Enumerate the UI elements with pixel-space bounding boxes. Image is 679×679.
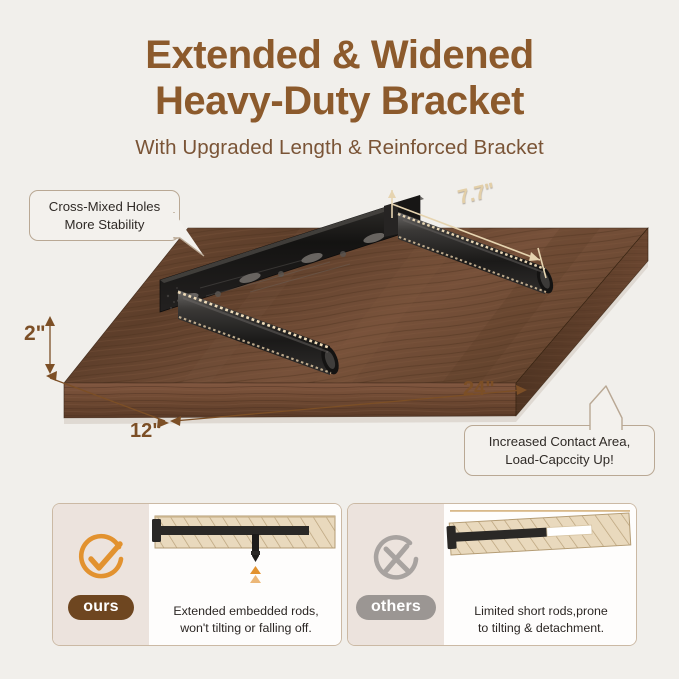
ours-diagram bbox=[149, 504, 342, 603]
callout-holes-line2: More Stability bbox=[40, 216, 169, 234]
callout-contact-line1: Increased Contact Area, bbox=[475, 433, 644, 451]
others-badge: others bbox=[356, 595, 436, 620]
ours-panel-body: Extended embedded rods, won't tilting or… bbox=[149, 504, 342, 645]
callout-increased-contact-area: Increased Contact Area, Load-Capccity Up… bbox=[464, 425, 655, 476]
ours-caption: Extended embedded rods, won't tilting or… bbox=[149, 603, 342, 645]
callout-contact-tail bbox=[582, 386, 628, 432]
shelf-front-face bbox=[64, 383, 516, 418]
others-diagram bbox=[444, 504, 637, 603]
others-caption: Limited short rods,prone to tilting & de… bbox=[444, 603, 637, 645]
comparison-panel-ours: ours bbox=[52, 503, 342, 646]
ours-badge: ours bbox=[68, 595, 133, 620]
others-caption-line1: Limited short rods,prone bbox=[450, 603, 632, 619]
infographic-root: Extended & Widened Heavy-Duty Bracket Wi… bbox=[0, 0, 679, 679]
check-circle-icon bbox=[75, 533, 127, 585]
others-diagram-svg bbox=[444, 504, 637, 592]
ours-caption-line1: Extended embedded rods, bbox=[155, 603, 337, 619]
ours-badge-column: ours bbox=[53, 504, 149, 645]
title-line-2: Heavy-Duty Bracket bbox=[0, 78, 679, 124]
ours-caption-line2: won't tilting or falling off. bbox=[155, 620, 337, 636]
page-title: Extended & Widened Heavy-Duty Bracket bbox=[0, 32, 679, 125]
title-line-1: Extended & Widened bbox=[0, 32, 679, 78]
others-badge-column: others bbox=[348, 504, 444, 645]
callout-cross-mixed-holes: Cross-Mixed Holes More Stability bbox=[29, 190, 180, 241]
comparison-section: ours bbox=[0, 503, 679, 653]
others-panel-body: Limited short rods,prone to tilting & de… bbox=[444, 504, 637, 645]
callout-holes-tail bbox=[174, 212, 220, 258]
page-subtitle: With Upgraded Length & Reinforced Bracke… bbox=[0, 136, 679, 160]
callout-contact-line2: Load-Capccity Up! bbox=[475, 451, 644, 469]
others-caption-line2: to tilting & detachment. bbox=[450, 620, 632, 636]
callout-holes-line1: Cross-Mixed Holes bbox=[40, 198, 169, 216]
x-circle-icon bbox=[370, 533, 422, 585]
dimension-line-thickness bbox=[45, 316, 55, 374]
ours-diagram-svg bbox=[149, 504, 342, 592]
comparison-panel-others: others bbox=[347, 503, 637, 646]
